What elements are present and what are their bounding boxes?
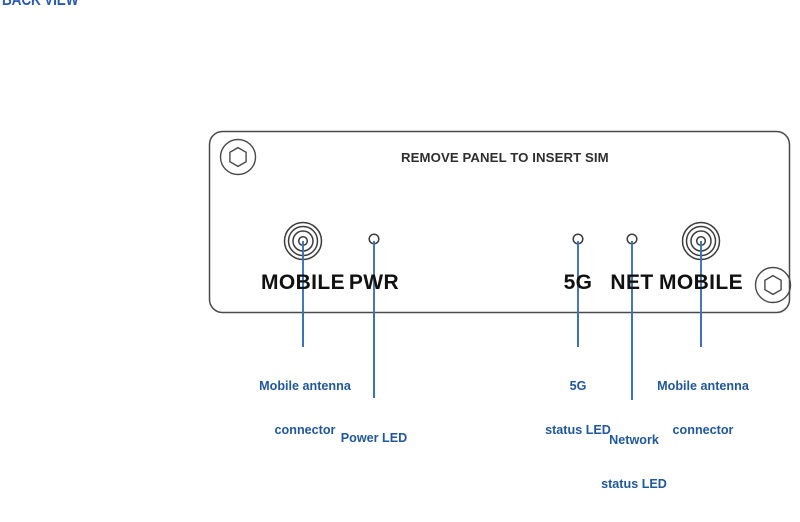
port-label-net: NET [610, 271, 653, 295]
page-title: BACK VIEW [2, 0, 78, 9]
port-label-mobile-left: MOBILE [261, 271, 345, 295]
callout-line-1: 5G [545, 379, 611, 394]
back-view-diagram: BACK VIEW REMOVE PANEL TO INSERT SIM MOB… [0, 0, 800, 431]
callout-line-1: Power LED [341, 431, 407, 446]
callout-mobile-antenna-left: Mobile antenna connector [259, 349, 351, 468]
callout-mobile-antenna-right: Mobile antenna connector [657, 349, 749, 468]
port-label-mobile-right: MOBILE [659, 271, 743, 295]
callout-power-led: Power LED [341, 401, 407, 475]
callout-line-1: Mobile antenna [657, 379, 749, 394]
callout-line-2: status LED [601, 477, 667, 492]
port-label-pwr: PWR [349, 271, 399, 295]
callout-line-1: Mobile antenna [259, 379, 351, 394]
port-label-5g: 5G [564, 271, 593, 295]
panel-instruction-text: REMOVE PANEL TO INSERT SIM [401, 151, 609, 165]
